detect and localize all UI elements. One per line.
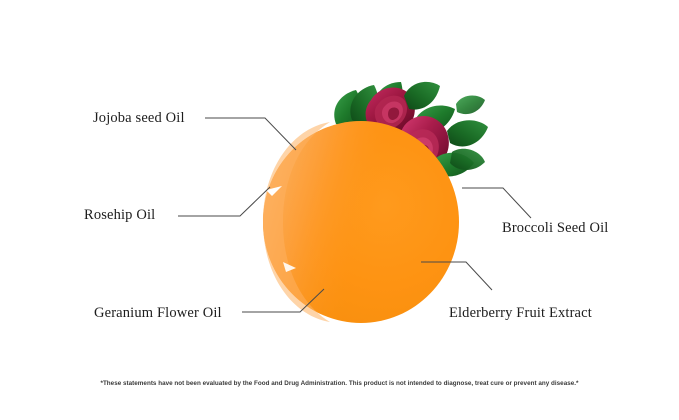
- leaf-icon: [450, 149, 485, 170]
- label-jojoba-seed-oil: Jojoba seed Oil: [93, 111, 185, 126]
- leader-line-elderberry: [421, 262, 492, 290]
- flower-cluster: [334, 82, 488, 176]
- leader-line-geranium: [242, 289, 324, 312]
- ingredient-callout-graphic: Jojoba seed Oil Rosehip Oil Geranium Flo…: [0, 0, 679, 420]
- leader-lines: [178, 118, 531, 312]
- leader-line-jojoba: [205, 118, 296, 150]
- leaf-icon: [334, 90, 361, 129]
- fda-disclaimer-text: *These statements have not been evaluate…: [0, 381, 679, 387]
- leaf-icon: [374, 82, 403, 119]
- circle-notch-upper: [266, 186, 282, 196]
- orange-circle-blob: [263, 121, 459, 323]
- label-rosehip-oil: Rosehip Oil: [84, 208, 155, 223]
- leaf-icon: [447, 120, 488, 146]
- leaf-icon: [456, 95, 485, 114]
- leader-line-broccoli: [462, 188, 531, 218]
- label-broccoli-seed-oil: Broccoli Seed Oil: [502, 221, 608, 236]
- leaf-icon: [433, 153, 474, 177]
- leader-line-rosehip: [178, 187, 270, 216]
- label-geranium-flower-oil: Geranium Flower Oil: [94, 306, 222, 321]
- leaf-icon: [404, 82, 440, 110]
- leaf-icon: [414, 105, 455, 132]
- leaf-icon: [350, 85, 378, 126]
- rose-icon: [397, 116, 449, 169]
- rose-icon: [366, 88, 415, 138]
- circle-notch-lower: [283, 262, 296, 272]
- label-elderberry-fruit-extract: Elderberry Fruit Extract: [449, 306, 592, 321]
